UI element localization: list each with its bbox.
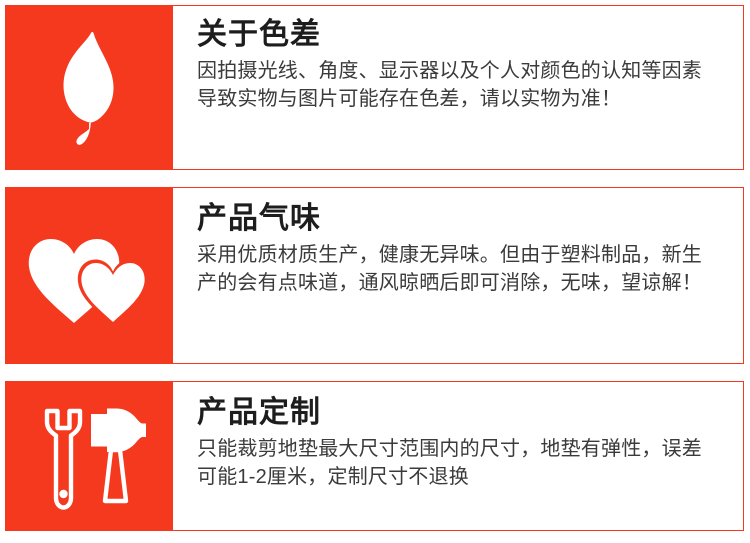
icon-panel — [5, 5, 173, 170]
card-description: 只能裁剪地垫最大尺寸范围内的尺寸，地垫有弹性，误差可能1-2厘米，定制尺寸不退换 — [197, 435, 721, 492]
icon-panel — [5, 187, 173, 364]
product-notice-panel: 关于色差 因拍摄光线、角度、显示器以及个人对颜色的认知等因素导致实物与图片可能存… — [0, 0, 750, 543]
card-body: 产品气味 采用优质材质生产，健康无异味。但由于塑料制品，新生产的会有点味道，通风… — [173, 188, 743, 363]
card-title: 产品定制 — [197, 396, 729, 430]
notice-card-color-difference: 关于色差 因拍摄光线、角度、显示器以及个人对颜色的认知等因素导致实物与图片可能存… — [5, 5, 744, 170]
icon-panel — [5, 381, 173, 531]
wrench-hammer-icon — [28, 398, 150, 516]
leaf-icon — [58, 30, 120, 148]
card-title: 关于色差 — [197, 18, 729, 52]
double-heart-icon — [26, 227, 152, 327]
card-body: 产品定制 只能裁剪地垫最大尺寸范围内的尺寸，地垫有弹性，误差可能1-2厘米，定制… — [173, 382, 743, 530]
hammer-icon — [91, 409, 146, 502]
card-title: 产品气味 — [197, 202, 729, 236]
card-description: 采用优质材质生产，健康无异味。但由于塑料制品，新生产的会有点味道，通风晾晒后即可… — [197, 241, 721, 298]
card-body: 关于色差 因拍摄光线、角度、显示器以及个人对颜色的认知等因素导致实物与图片可能存… — [173, 6, 743, 169]
wrench-icon — [47, 411, 80, 508]
card-description: 因拍摄光线、角度、显示器以及个人对颜色的认知等因素导致实物与图片可能存在色差，请… — [197, 57, 717, 114]
notice-card-customisation: 产品定制 只能裁剪地垫最大尺寸范围内的尺寸，地垫有弹性，误差可能1-2厘米，定制… — [5, 381, 744, 531]
notice-card-product-odour: 产品气味 采用优质材质生产，健康无异味。但由于塑料制品，新生产的会有点味道，通风… — [5, 187, 744, 364]
